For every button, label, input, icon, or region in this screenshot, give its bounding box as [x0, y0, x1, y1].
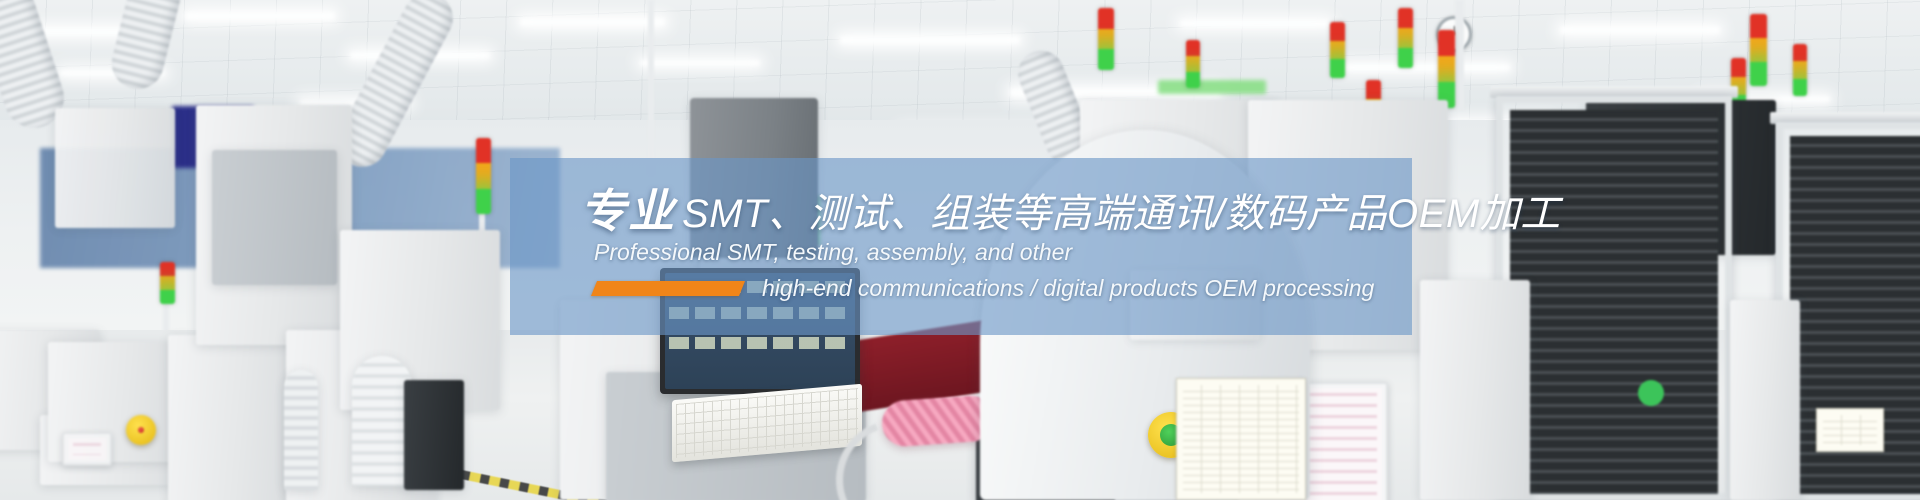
andon-red: [1366, 80, 1381, 99]
andon-green: [1098, 49, 1114, 70]
andon-green: [476, 189, 491, 214]
subtitle-line-1: Professional SMT, testing, assembly, and…: [594, 235, 1412, 271]
andon-red: [1186, 40, 1200, 56]
pcb-magazine-rack: [1496, 96, 1732, 500]
banner-headline: 专业SMT、测试、组装等高端通讯/数码产品OEM加工: [580, 187, 1412, 235]
andon-red: [160, 262, 175, 276]
equipment-cabinet: [1420, 280, 1530, 500]
andon-tower-light: [1793, 44, 1807, 96]
ceiling-light: [840, 36, 1020, 44]
andon-tower-light: [1750, 14, 1767, 86]
headline-rest: SMT、测试、组装等高端通讯/数码产品OEM加工: [682, 192, 1561, 236]
cable-bundle: [352, 356, 412, 486]
andon-amber: [1398, 28, 1413, 48]
ceiling-light: [1180, 20, 1330, 27]
andon-red: [1438, 30, 1455, 56]
rack-label-sheet: [1816, 408, 1884, 452]
andon-amber: [1098, 29, 1114, 50]
ceiling-light: [640, 60, 760, 66]
equipment-cabinet: [1730, 300, 1800, 500]
andon-red: [476, 138, 491, 163]
cable-bundle: [284, 370, 318, 490]
andon-amber: [1330, 41, 1345, 60]
ceiling-light: [520, 18, 665, 26]
smt-machine: [55, 108, 175, 228]
ceiling-light: [1560, 26, 1720, 34]
andon-amber: [1793, 61, 1807, 78]
andon-red: [1750, 14, 1767, 38]
hmi-screen: [68, 438, 106, 460]
andon-green: [1330, 59, 1345, 78]
green-indicator-dot: [1638, 380, 1664, 406]
ceiling-light: [185, 12, 335, 20]
orange-accent-bar: [591, 281, 745, 296]
hmi-panel: [62, 432, 112, 466]
andon-amber: [160, 276, 175, 290]
headline-overlay-panel: 专业SMT、测试、组装等高端通讯/数码产品OEM加工 Professional …: [510, 158, 1412, 335]
ceiling-light: [1340, 64, 1510, 71]
support-column: [648, 0, 654, 175]
hero-banner: 专业SMT、测试、组装等高端通讯/数码产品OEM加工 Professional …: [0, 0, 1920, 500]
screen-status-row: [669, 337, 851, 349]
subtitle-line-2-row: high-end communications / digital produc…: [594, 271, 1412, 307]
andon-red: [1793, 44, 1807, 61]
andon-tower-light: [1438, 30, 1455, 108]
headline-keyword: 专业: [580, 185, 676, 237]
support-column: [1455, 0, 1464, 110]
process-checklist-sheet: [1176, 378, 1306, 500]
smt-machine: [168, 335, 298, 500]
andon-amber: [476, 163, 491, 188]
andon-tower-light: [1398, 8, 1413, 68]
emergency-stop-button: [126, 415, 156, 445]
andon-tower-light: [1186, 40, 1200, 88]
rack-slots: [1510, 110, 1718, 494]
andon-red: [1398, 8, 1413, 28]
subtitle-line-2: high-end communications / digital produc…: [762, 271, 1374, 307]
andon-red: [1330, 22, 1345, 41]
andon-green: [1793, 79, 1807, 96]
andon-tower-light: [1330, 22, 1345, 78]
andon-amber: [1750, 38, 1767, 62]
andon-tower-light: [160, 262, 175, 304]
banner-subtitle: Professional SMT, testing, assembly, and…: [594, 235, 1412, 306]
andon-red: [1731, 58, 1746, 77]
andon-amber: [1186, 56, 1200, 72]
andon-green: [1398, 48, 1413, 68]
andon-green: [1186, 72, 1200, 88]
andon-amber: [1438, 56, 1455, 82]
andon-tower-light: [476, 138, 491, 214]
smt-machine-door: [212, 150, 337, 285]
green-status-strip: [1158, 80, 1266, 94]
andon-tower-light: [1098, 8, 1114, 70]
andon-red: [1098, 8, 1114, 29]
cart-shelf: [404, 380, 464, 490]
andon-green: [160, 290, 175, 304]
andon-green: [1750, 62, 1767, 86]
